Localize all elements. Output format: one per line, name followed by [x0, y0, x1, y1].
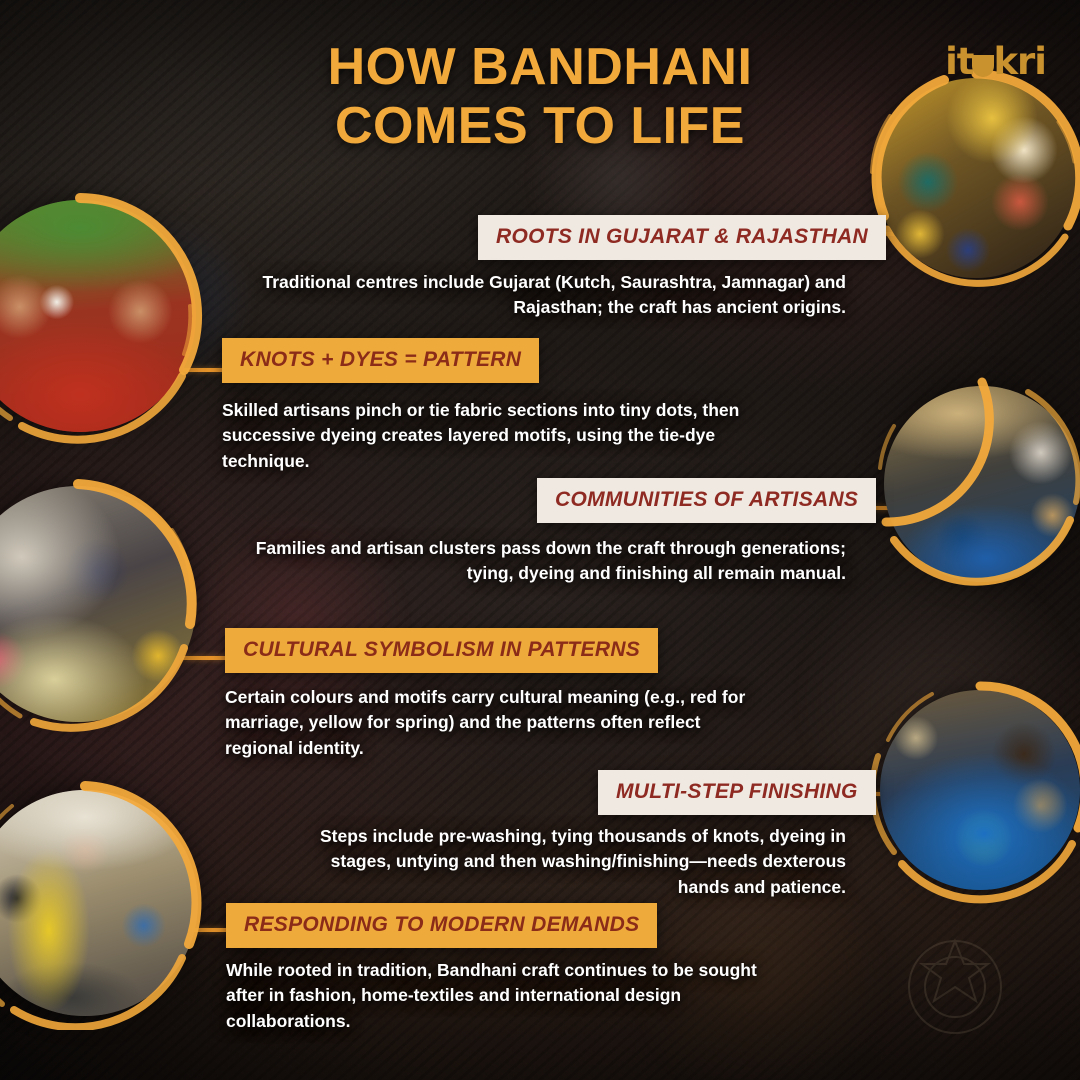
photo-image-artisan-yellow-dye — [0, 790, 198, 1016]
photo-image-woman-untying — [0, 486, 196, 722]
photo-frame — [0, 790, 198, 1016]
brand-logo[interactable]: itkri — [945, 40, 1046, 83]
photo-frame — [884, 386, 1080, 582]
section-label-finishing[interactable]: MULTI-STEP FINISHING — [598, 770, 876, 815]
section-body-knots-dyes: Skilled artisans pinch or tie fabric sec… — [222, 398, 762, 474]
logo-bowl-icon — [972, 55, 994, 77]
photo-frame — [880, 690, 1080, 890]
section-label-modern-demands[interactable]: RESPONDING TO MODERN DEMANDS — [226, 903, 657, 948]
photo-circle-artisan-dyeing-blue — [884, 386, 1080, 582]
section-body-roots: Traditional centres include Gujarat (Kut… — [262, 270, 846, 321]
page-title: HOW BANDHANI COMES TO LIFE — [0, 38, 1080, 157]
bandhani-motif-watermark — [860, 912, 1050, 1062]
photo-frame — [0, 200, 196, 432]
section-body-communities: Families and artisan clusters pass down … — [236, 536, 846, 587]
photo-image-hands-knotting — [0, 200, 196, 432]
page-title-line-2: COMES TO LIFE — [0, 97, 1080, 156]
brand-logo-text-a: it — [945, 40, 973, 83]
section-body-modern-demands: While rooted in tradition, Bandhani craf… — [226, 958, 786, 1034]
section-label-communities[interactable]: COMMUNITIES OF ARTISANS — [537, 478, 876, 523]
section-label-roots[interactable]: ROOTS IN GUJARAT & RAJASTHAN — [478, 215, 886, 260]
photo-image-artisan-dyeing-blue — [884, 386, 1080, 582]
photo-circle-hands-knotting — [0, 200, 196, 432]
section-body-finishing: Steps include pre-washing, tying thousan… — [300, 824, 846, 900]
section-label-knots-dyes[interactable]: KNOTS + DYES = PATTERN — [222, 338, 539, 383]
infographic-poster: HOW BANDHANI COMES TO LIFE itkri ROOTS I… — [0, 0, 1080, 1080]
section-body-symbolism: Certain colours and motifs carry cultura… — [225, 685, 765, 761]
photo-image-dye-vat-closeup — [880, 690, 1080, 890]
photo-circle-dye-vat-closeup — [880, 690, 1080, 890]
photo-frame — [0, 486, 196, 722]
photo-circle-woman-untying — [0, 486, 196, 722]
photo-circle-artisan-yellow-dye — [0, 790, 198, 1016]
section-label-symbolism[interactable]: CULTURAL SYMBOLISM IN PATTERNS — [225, 628, 658, 673]
page-title-line-1: HOW BANDHANI — [0, 38, 1080, 97]
brand-logo-text-b: kri — [993, 40, 1046, 83]
